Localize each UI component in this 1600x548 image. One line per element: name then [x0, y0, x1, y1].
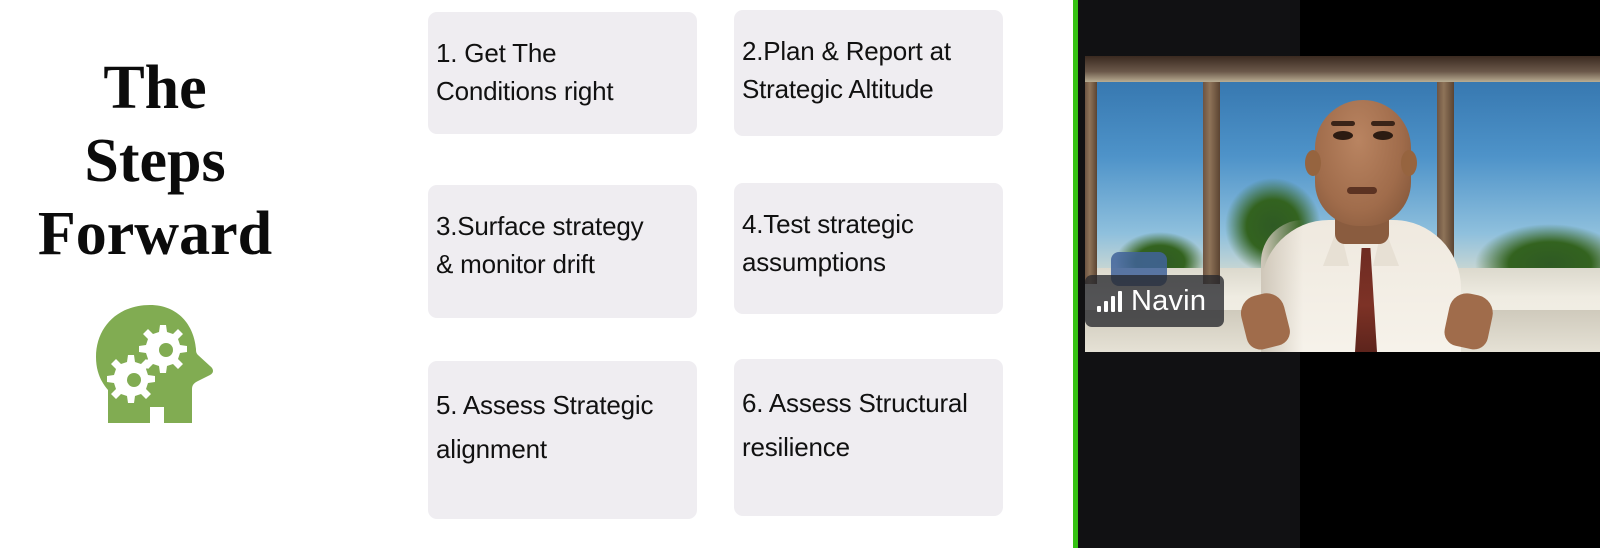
- person-ear-right: [1401, 150, 1417, 176]
- participant-person: [1261, 72, 1461, 352]
- step-box-6[interactable]: 6. Assess Structuralresilience: [734, 359, 1003, 516]
- title-line-3: Forward: [0, 198, 310, 271]
- participant-nameplate: Navin: [1085, 275, 1224, 327]
- step-box-2[interactable]: 2.Plan & Report atStrategic Altitude: [734, 10, 1003, 136]
- step-label-4: 4.Test strategicassumptions: [742, 205, 987, 281]
- title-line-2: Steps: [0, 125, 310, 198]
- person-eye-right: [1373, 131, 1393, 140]
- step-label-6: 6. Assess Structuralresilience: [742, 381, 987, 469]
- person-eye-left: [1333, 131, 1353, 140]
- page-title: The Steps Forward: [0, 52, 310, 271]
- video-conference-panel[interactable]: Navin: [1073, 0, 1600, 548]
- person-ear-left: [1305, 150, 1321, 176]
- window-frame-mullion: [1203, 74, 1220, 284]
- person-head: [1315, 100, 1411, 226]
- step-box-5[interactable]: 5. Assess Strategicalignment: [428, 361, 697, 519]
- step-box-4[interactable]: 4.Test strategicassumptions: [734, 183, 1003, 314]
- step-label-2: 2.Plan & Report atStrategic Altitude: [742, 32, 987, 108]
- signal-bars-icon: [1097, 291, 1122, 312]
- person-eyebrow-right: [1371, 121, 1395, 126]
- person-mouth: [1347, 187, 1377, 194]
- participant-name-label: Navin: [1131, 287, 1206, 316]
- step-box-1[interactable]: 1. Get TheConditions right: [428, 12, 697, 134]
- step-label-1: 1. Get TheConditions right: [436, 34, 681, 110]
- title-line-1: The: [0, 52, 310, 125]
- steps-grid: 1. Get TheConditions right 2.Plan & Repo…: [428, 8, 1004, 520]
- step-label-5: 5. Assess Strategicalignment: [436, 383, 681, 471]
- presentation-slide: The Steps Forward 1. Get TheConditions r…: [0, 0, 1600, 548]
- person-eyebrow-left: [1331, 121, 1355, 126]
- window-frame-mullion: [1085, 74, 1097, 284]
- head-with-gears-icon: [88, 303, 220, 425]
- step-label-3: 3.Surface strategy& monitor drift: [436, 207, 681, 283]
- step-box-3[interactable]: 3.Surface strategy& monitor drift: [428, 185, 697, 318]
- participant-video-feed[interactable]: Navin: [1085, 56, 1600, 352]
